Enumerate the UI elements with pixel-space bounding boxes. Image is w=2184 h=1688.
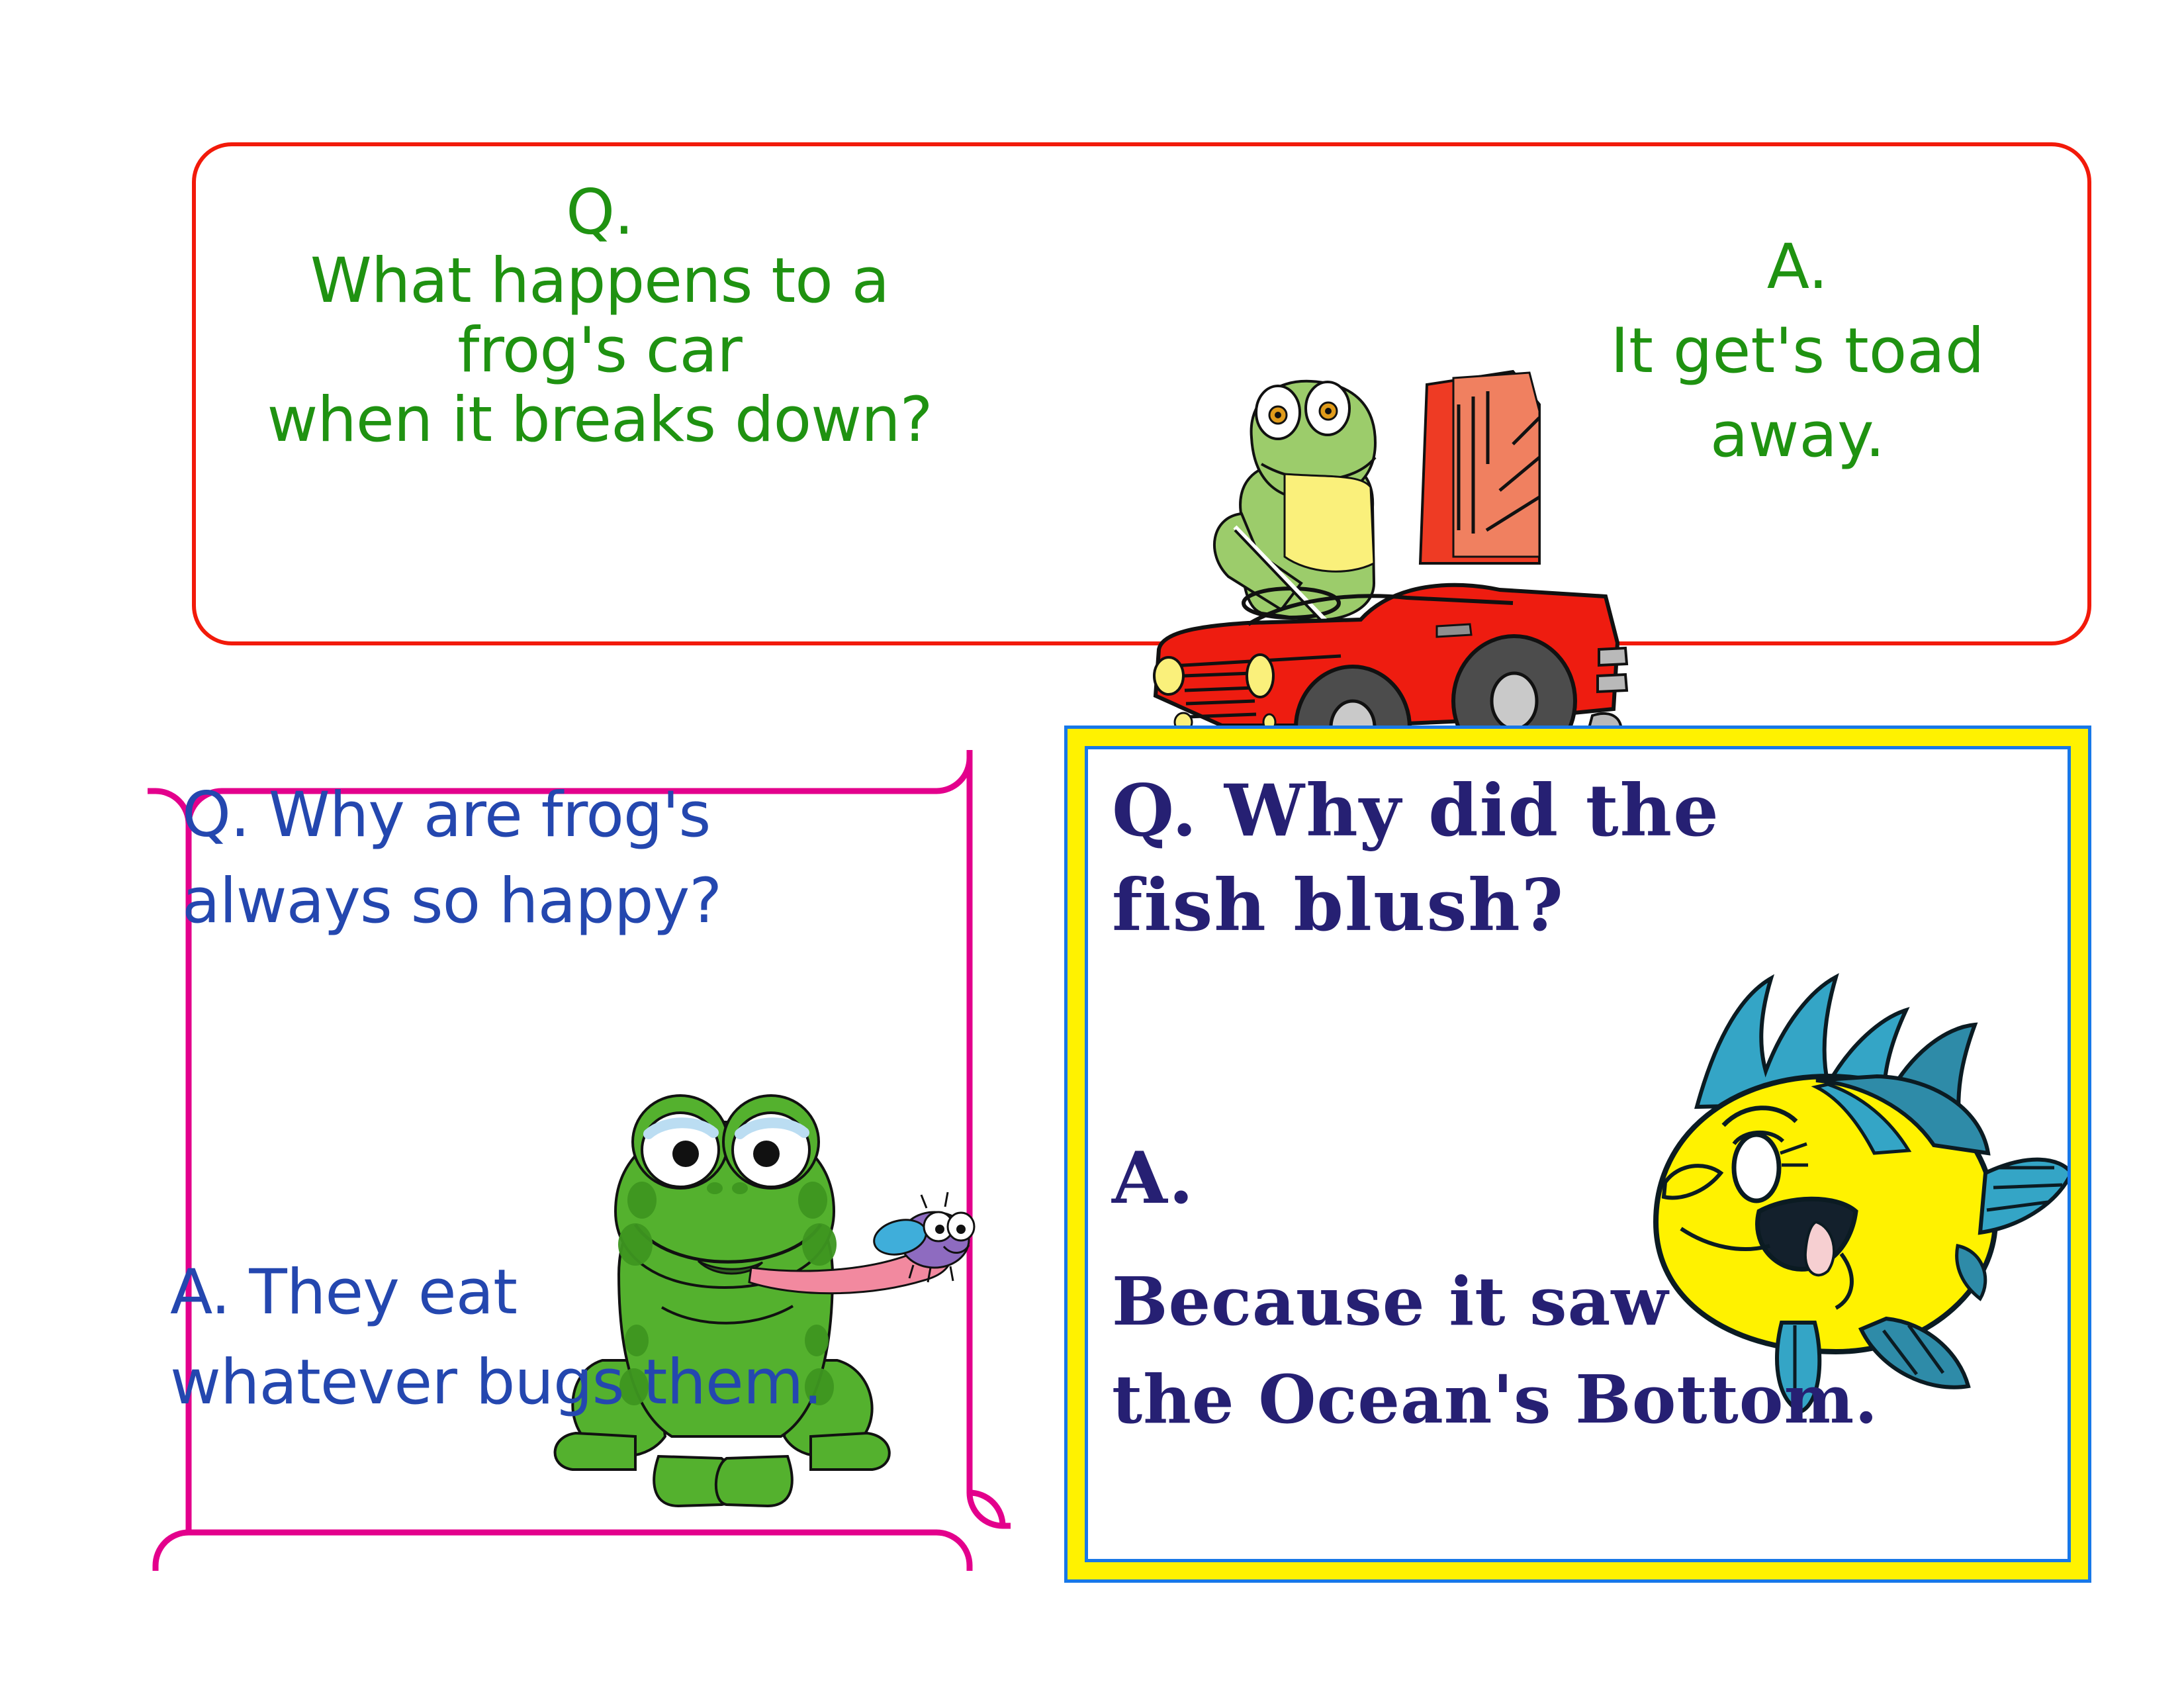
joke-card-blushing-fish: Q. Why did the fish blush? A.: [1064, 726, 2091, 1583]
card1-answer-marker: A.: [1513, 226, 2082, 310]
card3-inner-panel: Q. Why did the fish blush? A.: [1085, 746, 2071, 1562]
card2-answer-block: A. They eat whatever bugs them.: [170, 1248, 1011, 1429]
worksheet-page: Q. What happens to a frog's car when it …: [0, 0, 2184, 1688]
card2-question-line-1: Q. Why are frog's: [182, 773, 996, 859]
card3-answer-line-1: Because it saw: [1112, 1252, 2071, 1350]
card3-answer-line-2: the Ocean's Bottom.: [1112, 1350, 2071, 1448]
card3-answer-block: Because it saw the Ocean's Bottom.: [1112, 1252, 2071, 1448]
card3-question-line-2: fish blush?: [1112, 859, 2052, 953]
joke-card-frog-car: Q. What happens to a frog's car when it …: [192, 142, 2091, 645]
card2-question-block: Q. Why are frog's always so happy?: [182, 773, 996, 944]
card1-answer-block: A. It get's toad away.: [1513, 226, 2082, 478]
card1-answer-line-2: away.: [1513, 394, 2082, 478]
card1-question-marker: Q.: [236, 181, 964, 246]
card1-question-line-1: What happens to a: [236, 246, 964, 316]
card1-question-block: Q. What happens to a frog's car when it …: [236, 181, 964, 455]
card3-question-block: Q. Why did the fish blush?: [1112, 764, 2052, 953]
card2-answer-line-1: A. They eat: [170, 1248, 1011, 1338]
card3-answer-marker: A.: [1112, 1137, 1195, 1220]
card2-question-line-2: always so happy?: [182, 859, 996, 945]
card1-question-line-2: frog's car: [236, 316, 964, 385]
joke-card-happy-frog: Q. Why are frog's always so happy?: [142, 745, 1016, 1572]
card3-question-line-1: Q. Why did the: [1112, 764, 2052, 859]
card1-answer-line-1: It get's toad: [1513, 310, 2082, 394]
card1-question-line-3: when it breaks down?: [236, 385, 964, 455]
card2-answer-line-2: whatever bugs them.: [170, 1338, 1011, 1428]
